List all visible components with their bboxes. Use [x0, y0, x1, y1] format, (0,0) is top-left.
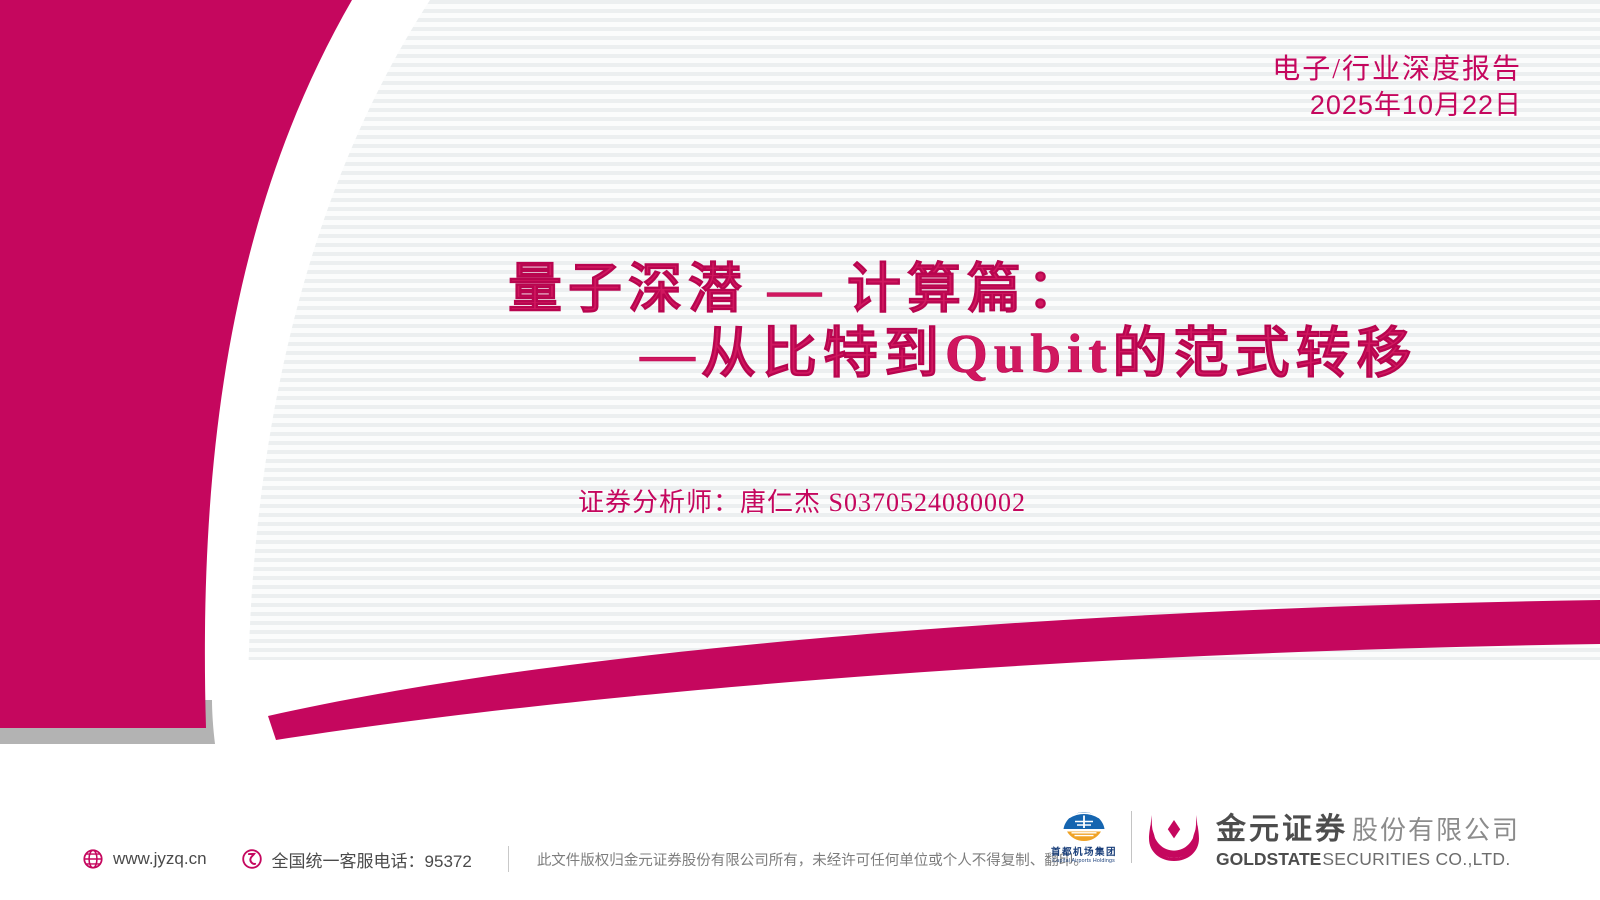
- report-date: 2025年10月22日: [1272, 88, 1522, 123]
- title-line-2: —从比特到Qubit的范式转移: [340, 322, 1540, 387]
- goldstate-name-en-strong: GOLDSTATE: [1216, 849, 1321, 870]
- footer-divider: [508, 846, 509, 872]
- title-line-1: 量子深潜 — 计算篇：: [340, 258, 1540, 322]
- capital-airports-name-cn: 首都机场集团: [1051, 844, 1117, 858]
- website-text: www.jyzq.cn: [113, 849, 207, 869]
- footer-contact-group: www.jyzq.cn 全国统一客服电话：95372 此文件版权归金元证券股份有…: [82, 846, 1088, 872]
- copyright-text: 此文件版权归金元证券股份有限公司所有，未经许可任何单位或个人不得复制、翻印。: [537, 849, 1088, 870]
- report-category: 电子/行业深度报告: [1272, 52, 1522, 88]
- goldstate-name-cn-light: 股份有限公司: [1352, 810, 1520, 847]
- phone-text: 全国统一客服电话：95372: [272, 847, 472, 872]
- capital-airports-logo: 首都机场集团 Capital Airports Holdings: [1051, 810, 1117, 864]
- website-item[interactable]: www.jyzq.cn: [82, 848, 207, 870]
- analyst-credit: 证券分析师：唐仁杰 S0370524080002: [578, 482, 1026, 519]
- globe-icon: [82, 848, 104, 870]
- logo-lockup: 首都机场集团 Capital Airports Holdings 金元证券 股份…: [1051, 804, 1520, 870]
- goldstate-name-en-light: SECURITIES CO.,LTD.: [1322, 849, 1510, 870]
- header-block: 电子/行业深度报告 2025年10月22日: [1272, 52, 1522, 122]
- goldstate-wordmark: 金元证券 股份有限公司 GOLDSTATE SECURITIES CO.,LTD…: [1216, 804, 1520, 870]
- goldstate-crescent-icon: [1146, 811, 1202, 863]
- phone-item[interactable]: 全国统一客服电话：95372: [241, 847, 472, 872]
- goldstate-name-cn-strong: 金元证券: [1216, 804, 1348, 848]
- presentation-cover-slide: 电子/行业深度报告 2025年10月22日 量子深潜 — 计算篇： —从比特到Q…: [0, 0, 1600, 900]
- page-title: 量子深潜 — 计算篇： —从比特到Qubit的范式转移: [340, 258, 1540, 387]
- lockup-divider: [1131, 811, 1132, 863]
- capital-airports-name-en: Capital Airports Holdings: [1053, 858, 1116, 864]
- footer-bar: www.jyzq.cn 全国统一客服电话：95372 此文件版权归金元证券股份有…: [0, 780, 1600, 900]
- phone-icon: [241, 848, 263, 870]
- left-panel-shadow: [0, 700, 215, 744]
- capital-airports-holdings-icon: [1061, 810, 1107, 842]
